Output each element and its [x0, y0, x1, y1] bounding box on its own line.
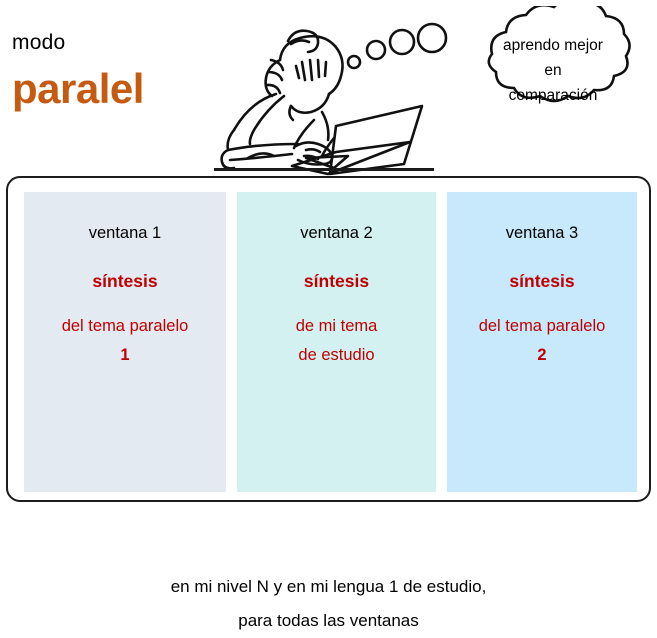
detail-line-2-2: de estudio [237, 341, 436, 370]
detail-line-3-2: 2 [447, 341, 637, 370]
thought-bubble-text: aprendo mejor en comparación [472, 33, 634, 108]
detail-line-1-1: del tema paralelo [24, 312, 226, 341]
thought-line-1: aprendo mejor [472, 33, 634, 58]
detail-text-2: de mi tema de estudio [237, 312, 436, 370]
page-title: paralel [12, 64, 242, 114]
title-block: modo paralel [12, 30, 242, 114]
window-column-2[interactable]: ventana 2 síntesis de mi tema de estudio [237, 192, 436, 492]
window-column-3[interactable]: ventana 3 síntesis del tema paralelo 2 [447, 192, 637, 492]
header-area: modo paralel [0, 0, 657, 176]
detail-line-2-1: de mi tema [237, 312, 436, 341]
columns-row: ventana 1 síntesis del tema paralelo 1 v… [8, 192, 653, 492]
detail-text-1: del tema paralelo 1 [24, 312, 226, 370]
sintesis-label-3: síntesis [447, 271, 637, 292]
detail-text-3: del tema paralelo 2 [447, 312, 637, 370]
panel-footer-text: en mi nivel N y en mi lengua 1 de estudi… [8, 570, 649, 638]
detail-line-1-2: 1 [24, 341, 226, 370]
thought-line-3: comparación [472, 83, 634, 108]
sintesis-label-1: síntesis [24, 271, 226, 292]
footer-line-1: en mi nivel N y en mi lengua 1 de estudi… [8, 570, 649, 604]
title-kicker: modo [12, 30, 242, 56]
footer-line-2: para todas las ventanas [8, 604, 649, 638]
main-panel: ventana 1 síntesis del tema paralelo 1 v… [6, 176, 651, 502]
thought-line-2: en [472, 58, 634, 83]
window-label-2: ventana 2 [237, 224, 436, 243]
detail-line-3-1: del tema paralelo [447, 312, 637, 341]
thought-dots [344, 16, 462, 76]
desk-line [214, 168, 434, 171]
window-column-1[interactable]: ventana 1 síntesis del tema paralelo 1 [24, 192, 226, 492]
window-label-3: ventana 3 [447, 224, 637, 243]
window-label-1: ventana 1 [24, 224, 226, 243]
sintesis-label-2: síntesis [237, 271, 436, 292]
